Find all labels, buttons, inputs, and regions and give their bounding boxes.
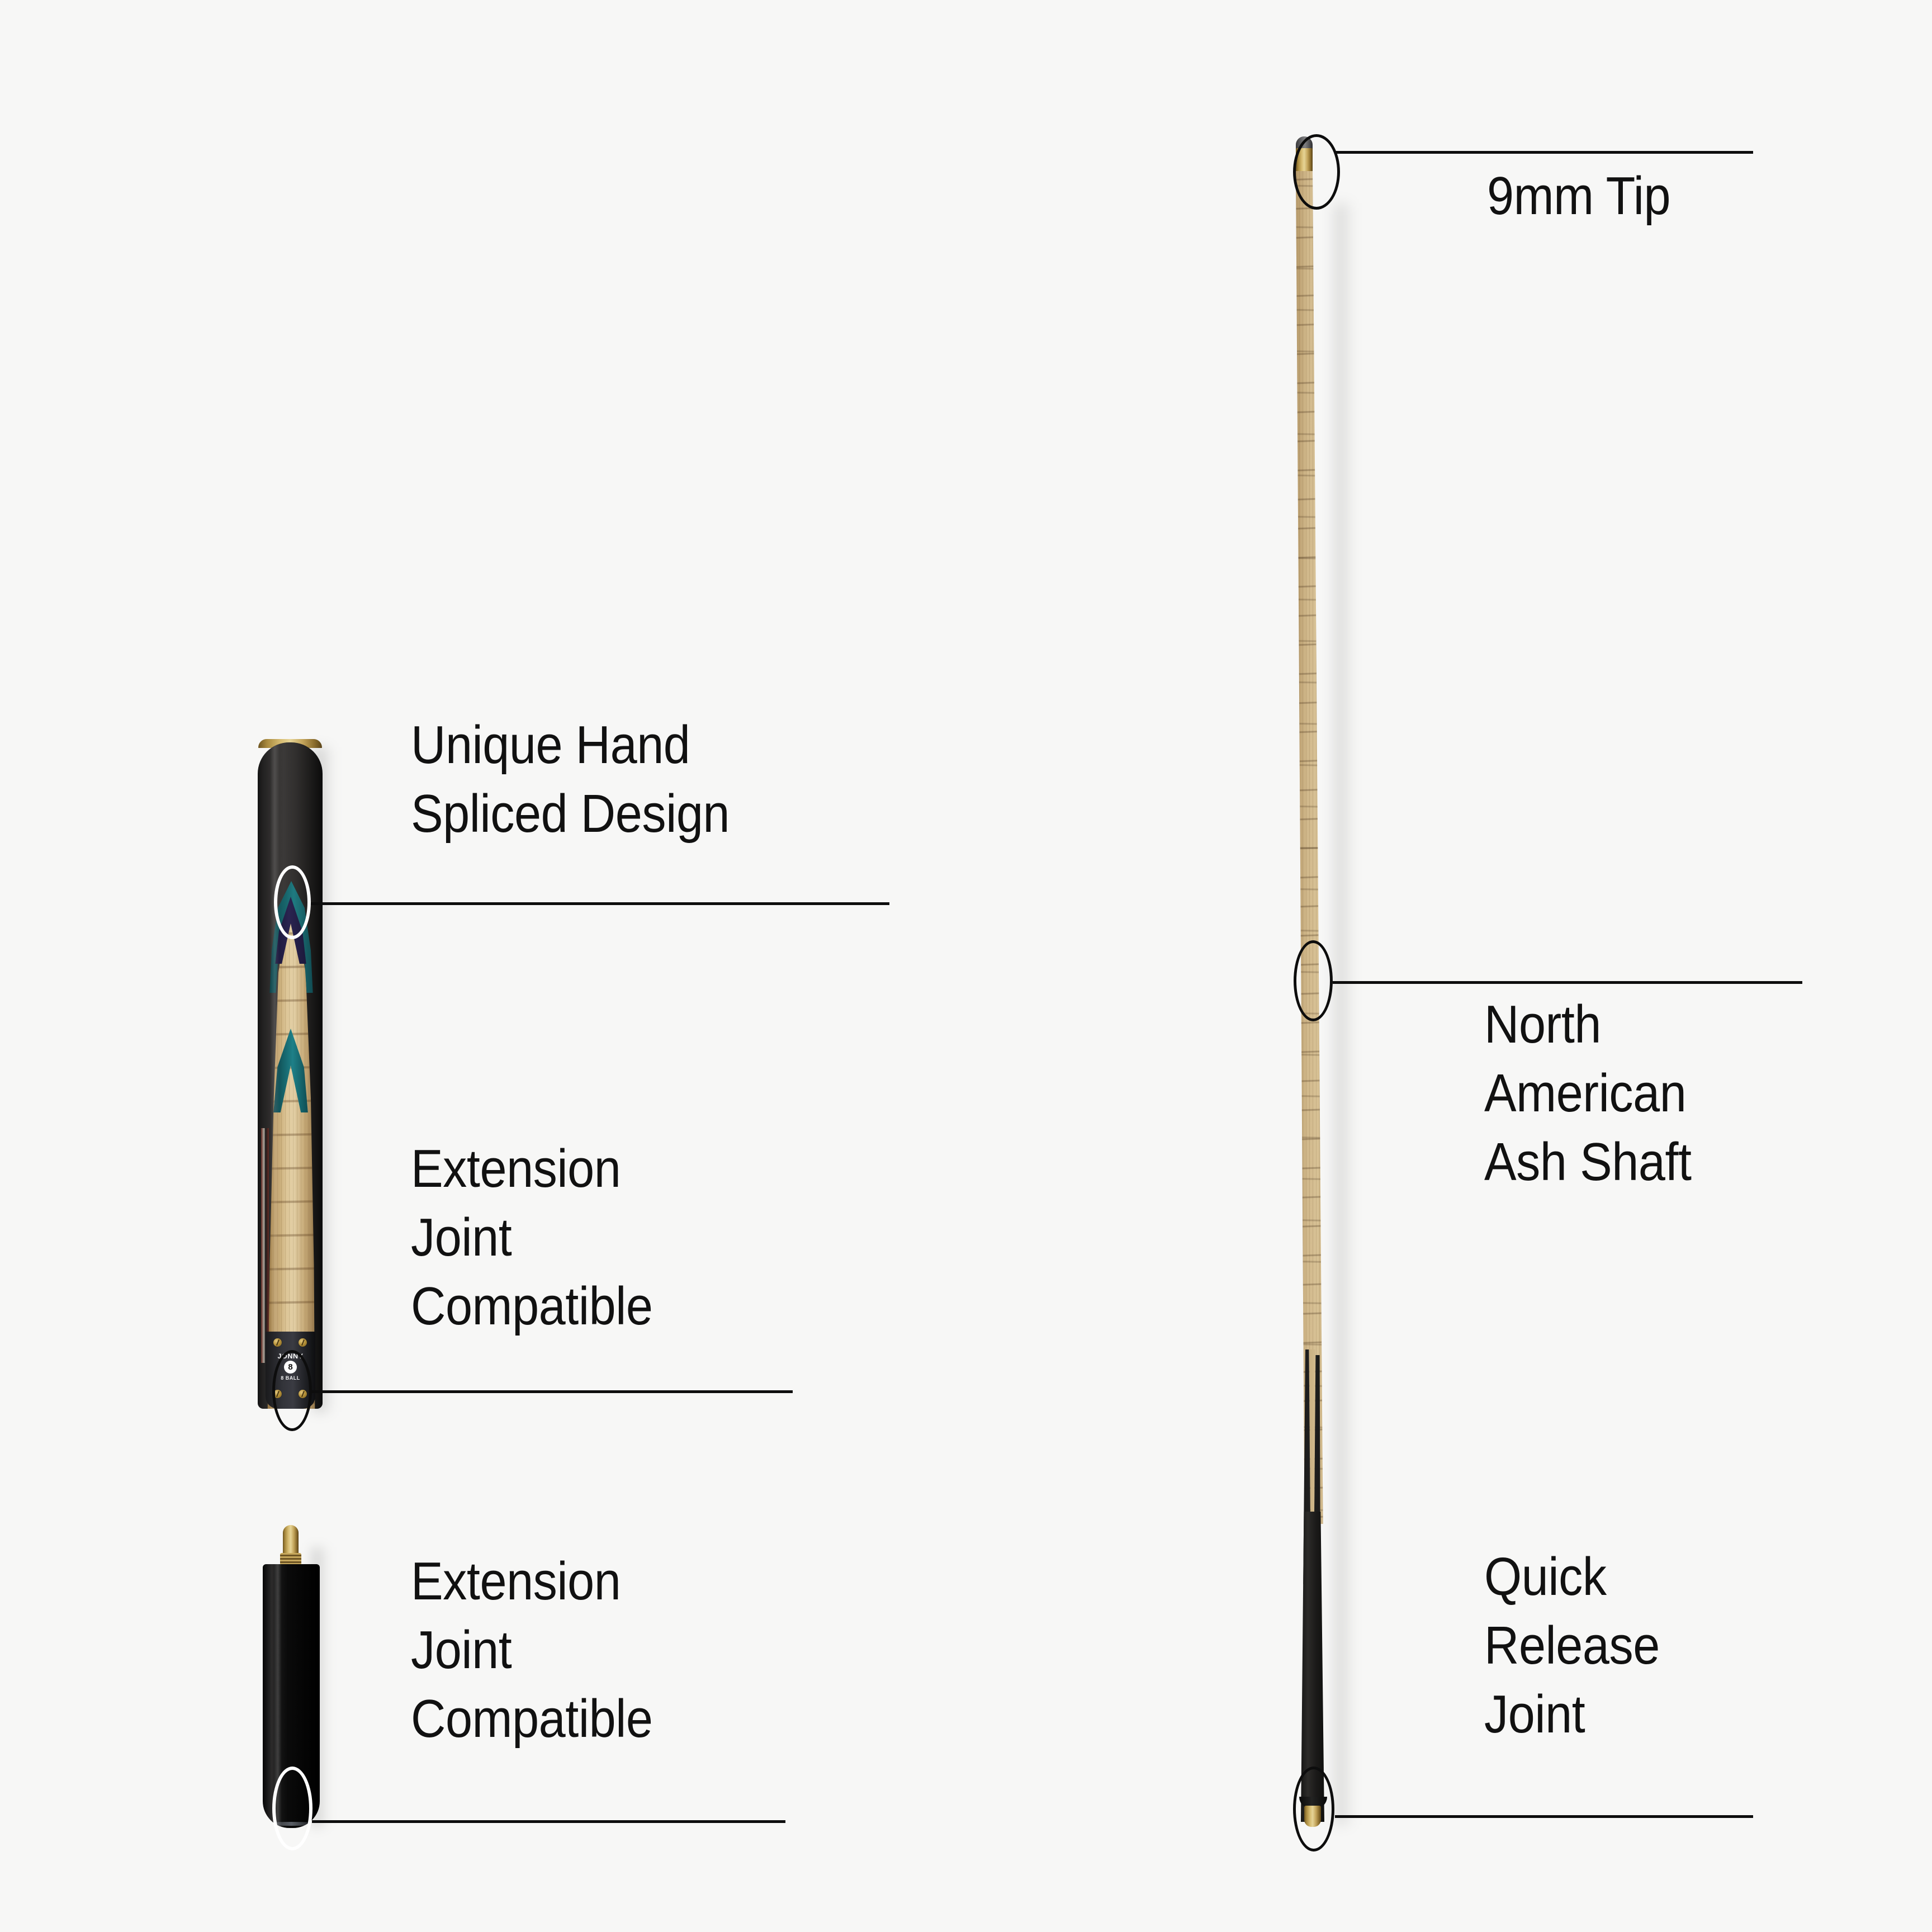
full-cue-shadow (1335, 203, 1354, 1825)
butt-badge-plate: JONNY 8 8 BALL (266, 1332, 315, 1409)
butt-section-assembly: JONNY 8 8 BALL (256, 739, 329, 1413)
badge-brand-text: JONNY (264, 1353, 316, 1360)
leader-line-ash-shaft (1333, 981, 1802, 984)
extension-brass-pin (283, 1525, 299, 1554)
ash-shaft-line-2: American (1484, 1063, 1686, 1123)
cue-ferrule (1296, 148, 1313, 175)
quick-release-line-1: Quick (1484, 1547, 1607, 1607)
spliced-design-line-1: Unique Hand (411, 715, 690, 775)
extension-black-body (263, 1564, 320, 1828)
annotation-label-tip: 9mm Tip (1487, 162, 1670, 231)
leader-line-tip (1335, 151, 1753, 154)
leader-line-extension-piece (312, 1820, 785, 1823)
badge-eight-ball: 8 (284, 1361, 297, 1374)
cue-quick-release-pin (1304, 1806, 1321, 1827)
leader-line-extension-butt (311, 1390, 793, 1393)
extension-highlight (274, 1564, 282, 1828)
annotation-label-spliced-design: Unique HandSpliced Design (411, 711, 730, 849)
badge-screw-top-right (299, 1338, 307, 1347)
extension-piece-line-1: Extension (411, 1551, 621, 1611)
annotation-label-ash-shaft: NorthAmericanAsh Shaft (1484, 991, 1692, 1197)
quick-release-line-2: Release (1484, 1616, 1660, 1675)
annotation-label-extension-piece: ExtensionJointCompatible (411, 1547, 653, 1754)
extension-rim-highlight (263, 1822, 320, 1826)
badge-sub-text: 8 BALL (266, 1376, 315, 1381)
annotation-label-extension-butt: ExtensionJointCompatible (411, 1135, 653, 1341)
extension-butt-line-1: Extension (411, 1139, 621, 1199)
extension-piece-line-3: Compatible (411, 1689, 653, 1749)
ash-shaft-line-1: North (1484, 995, 1601, 1054)
leader-line-spliced-design (311, 902, 889, 905)
badge-screw-bottom-left (273, 1390, 282, 1398)
extension-piece-line-2: Joint (411, 1620, 512, 1680)
spliced-design-line-2: Spliced Design (411, 784, 730, 844)
ash-shaft-line-3: Ash Shaft (1484, 1132, 1692, 1192)
leader-line-quick-release (1335, 1815, 1753, 1818)
extension-thread-rings (280, 1553, 301, 1565)
diagram-canvas: JONNY 8 8 BALL (0, 0, 1932, 1932)
quick-release-line-3: Joint (1484, 1684, 1585, 1744)
extension-piece-assembly (258, 1525, 325, 1832)
badge-screw-bottom-right (299, 1390, 307, 1398)
extension-butt-line-3: Compatible (411, 1276, 653, 1336)
butt-highlight (270, 742, 280, 1409)
splice-side-veneer (261, 1128, 269, 1363)
extension-butt-line-2: Joint (411, 1207, 512, 1267)
badge-screw-top-left (273, 1338, 282, 1347)
butt-ebony-body (258, 742, 323, 1409)
annotation-label-quick-release: QuickReleaseJoint (1484, 1543, 1660, 1749)
